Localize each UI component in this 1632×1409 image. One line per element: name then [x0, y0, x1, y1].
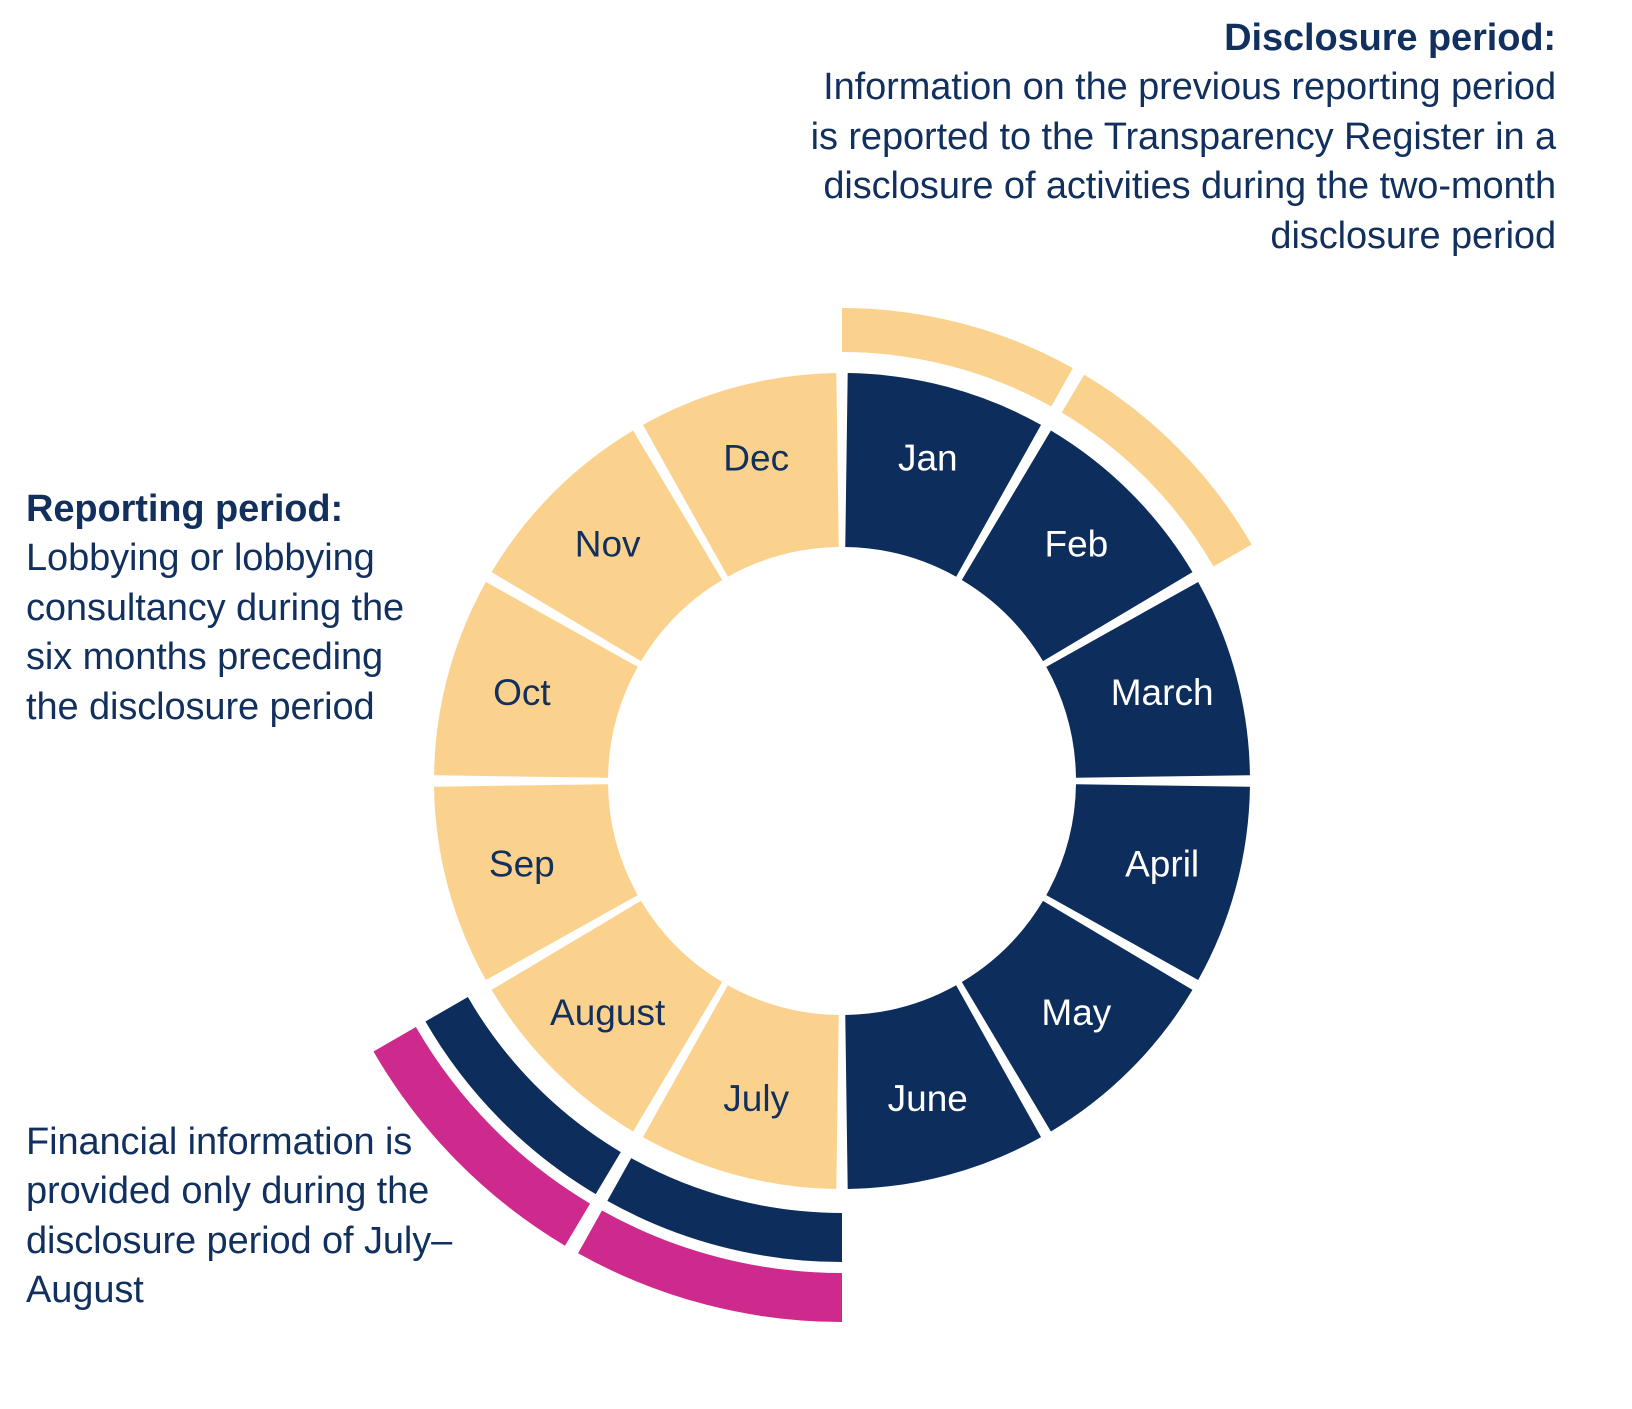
- month-label-nov: Nov: [575, 523, 641, 564]
- month-label-june: June: [888, 1078, 968, 1119]
- month-label-sep: Sep: [489, 844, 555, 885]
- callout-reporting-period: Reporting period: Lobbying or lobbying c…: [26, 485, 446, 732]
- callout-disclosure-period: Disclosure period: Information on the pr…: [788, 14, 1556, 261]
- callout-reporting-body: Lobbying or lobbying consultancy during …: [26, 534, 446, 732]
- month-label-jan: Jan: [898, 438, 958, 479]
- month-label-feb: Feb: [1044, 523, 1108, 564]
- callout-financial-information: Financial information is provided only d…: [26, 1118, 506, 1316]
- month-label-march: March: [1111, 672, 1214, 713]
- callout-disclosure-heading: Disclosure period:: [788, 14, 1556, 63]
- infographic-canvas: JanFebMarchAprilMayJuneJulyAugustSepOctN…: [0, 0, 1632, 1409]
- month-label-april: April: [1125, 844, 1199, 885]
- callout-reporting-heading: Reporting period:: [26, 485, 446, 534]
- month-label-august: August: [550, 992, 666, 1033]
- callout-financial-body: Financial information is provided only d…: [26, 1118, 506, 1316]
- callout-disclosure-body: Information on the previous reporting pe…: [788, 63, 1556, 261]
- month-label-may: May: [1041, 992, 1111, 1033]
- month-label-dec: Dec: [723, 438, 789, 479]
- month-ring: [434, 373, 1250, 1189]
- month-label-july: July: [723, 1078, 789, 1119]
- month-label-oct: Oct: [493, 672, 551, 713]
